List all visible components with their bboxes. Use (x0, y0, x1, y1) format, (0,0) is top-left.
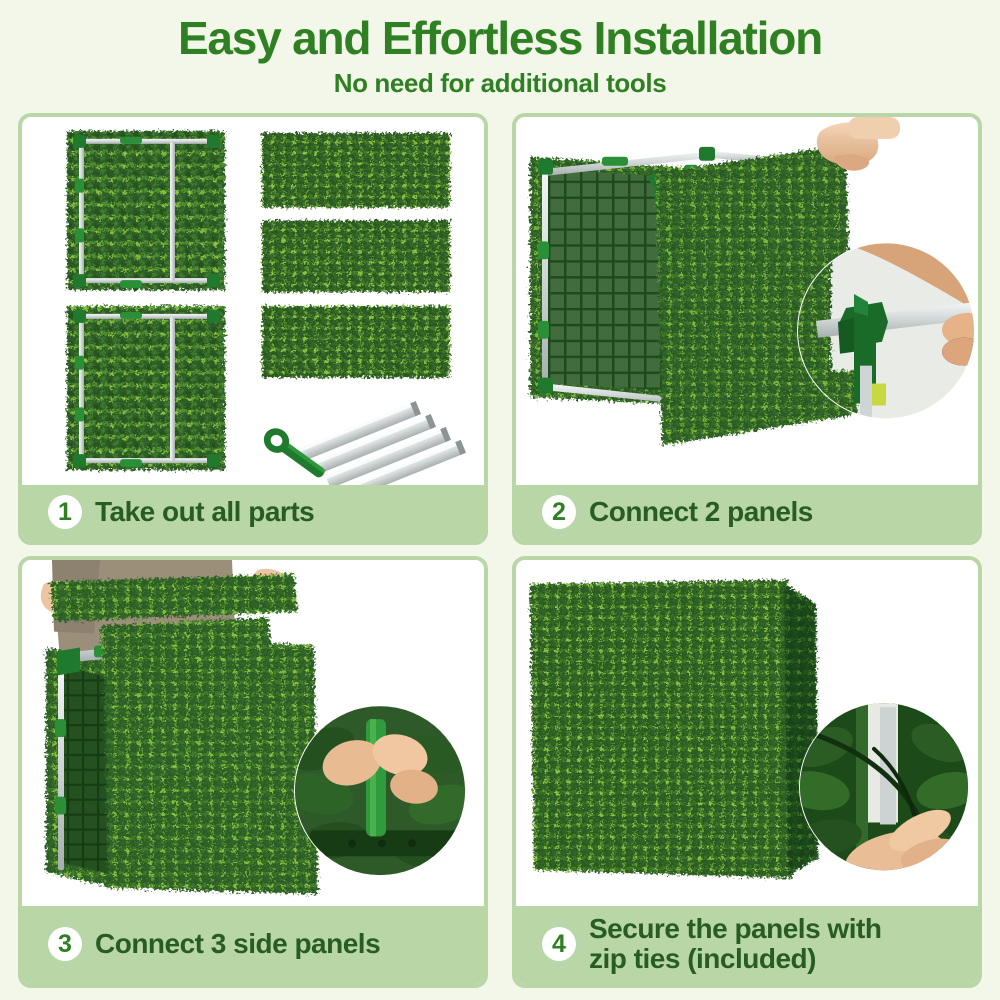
step-2-caption: 2 Connect 2 panels (516, 485, 978, 541)
framed-hedge-panel-2 (67, 306, 225, 470)
step-4-illustration (516, 560, 978, 906)
step-1-caption: 1 Take out all parts (22, 485, 484, 541)
step-2-label: Connect 2 panels (589, 497, 813, 527)
page-subtitle: No need for additional tools (0, 68, 1000, 98)
step-3-label: Connect 3 side panels (95, 929, 380, 959)
step-card-1: 1 Take out all parts (18, 113, 488, 545)
partially-assembled-hedge-box (46, 618, 318, 894)
completed-hedge-cube (530, 580, 818, 878)
hedge-mat-strips (262, 133, 450, 378)
step-number-badge: 2 (542, 495, 576, 529)
step-number-badge: 1 (48, 495, 82, 529)
step-card-4: 4 Secure the panels with zip ties (inclu… (512, 556, 982, 988)
framed-hedge-panel-1 (67, 131, 225, 290)
step-number-badge: 3 (48, 927, 82, 961)
step-4-label: Secure the panels with zip ties (include… (589, 914, 881, 974)
step-1-illustration (22, 117, 484, 485)
steps-grid: 1 Take out all parts (18, 113, 982, 988)
step-3-illustration (22, 560, 484, 906)
page-title: Easy and Effortless Installation (0, 13, 1000, 63)
step-card-2: 2 Connect 2 panels (512, 113, 982, 545)
step-3-caption: 3 Connect 3 side panels (22, 906, 484, 984)
step-2-illustration (516, 117, 978, 485)
infographic-header: Easy and Effortless Installation No need… (0, 0, 1000, 98)
step-1-label: Take out all parts (95, 497, 314, 527)
step-card-3: 3 Connect 3 side panels (18, 556, 488, 988)
step-number-badge: 4 (542, 927, 576, 961)
step-4-caption: 4 Secure the panels with zip ties (inclu… (516, 906, 978, 984)
